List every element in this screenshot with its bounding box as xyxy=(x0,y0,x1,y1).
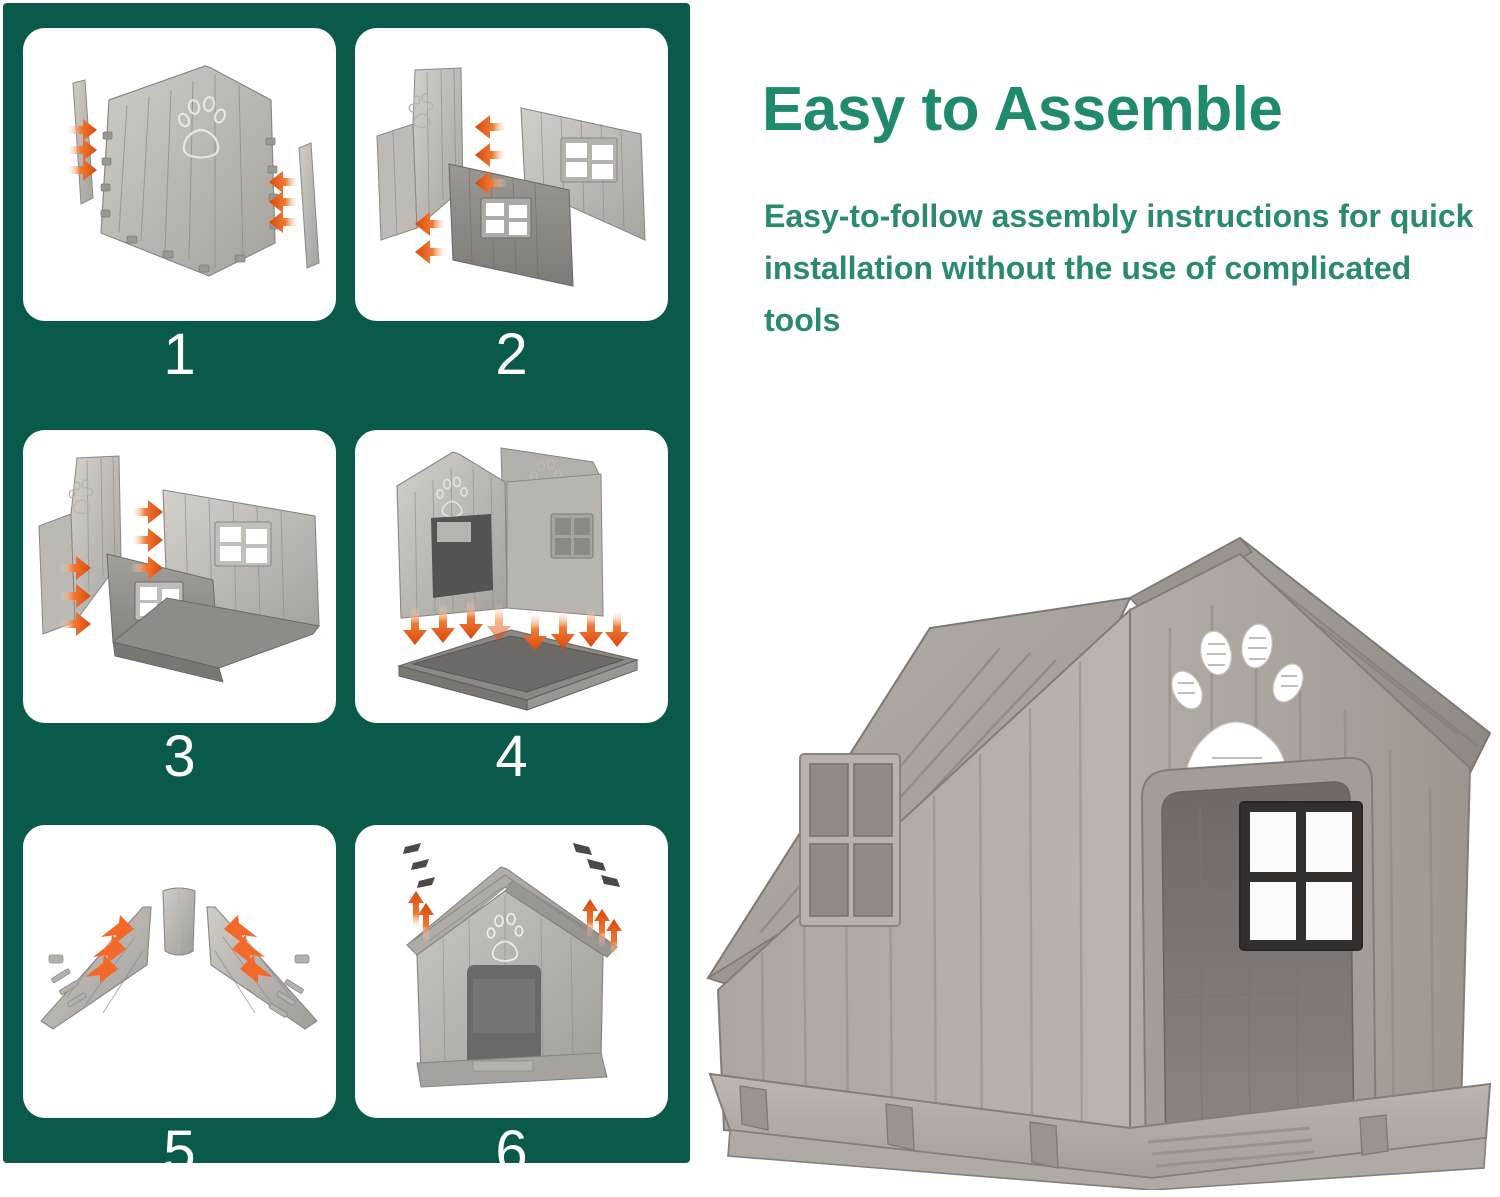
step-number-3: 3 xyxy=(23,726,336,788)
side-rail-right xyxy=(299,143,319,268)
step-4-illustration xyxy=(355,430,668,723)
window-frame xyxy=(481,198,531,238)
front-wall-folded xyxy=(377,68,463,240)
step-card-4 xyxy=(355,430,668,723)
front-wall-panel xyxy=(101,66,279,276)
side-window xyxy=(800,754,900,926)
step-1-illustration xyxy=(23,28,336,321)
assembly-step-1: 1 xyxy=(23,28,336,321)
step-number-1: 1 xyxy=(23,324,336,386)
step-2-illustration xyxy=(355,28,668,321)
assembly-arrows-left xyxy=(67,119,97,181)
front-wall xyxy=(1130,554,1470,1178)
step-number-5: 5 xyxy=(23,1121,336,1183)
page-title: Easy to Assemble xyxy=(762,74,1462,146)
rear-window xyxy=(1240,802,1362,950)
step-card-3 xyxy=(23,430,336,723)
step-5-illustration xyxy=(23,825,336,1118)
floor-base-panel xyxy=(399,630,637,710)
window-frame xyxy=(215,522,271,566)
step-card-5 xyxy=(23,825,336,1118)
assembly-step-2: 2 xyxy=(355,28,668,321)
step-number-6: 6 xyxy=(355,1121,668,1183)
wall-assembly xyxy=(397,448,603,618)
roof-ridge-cap xyxy=(163,888,195,955)
assembly-steps-panel: 1 xyxy=(3,3,690,1163)
assembly-step-3: 3 xyxy=(23,430,336,723)
window-frame xyxy=(551,514,593,558)
assembly-step-5: 5 xyxy=(23,825,336,1118)
step-3-illustration xyxy=(23,430,336,723)
step-card-6 xyxy=(355,825,668,1118)
step-number-2: 2 xyxy=(355,324,668,386)
step-card-2 xyxy=(355,28,668,321)
step-card-1 xyxy=(23,28,336,321)
roof-panel-left xyxy=(41,907,151,1029)
roof-panel-right xyxy=(207,907,317,1029)
page-subtitle: Easy-to-follow assembly instructions for… xyxy=(764,190,1474,346)
hero-product-image xyxy=(700,478,1500,1190)
assembly-step-4: 4 xyxy=(355,430,668,723)
front-wall-gabled xyxy=(39,456,121,634)
step-6-illustration xyxy=(355,825,668,1118)
assembly-arrows-right xyxy=(269,171,299,233)
window-frame xyxy=(561,138,617,182)
step-number-4: 4 xyxy=(355,726,668,788)
assembly-step-6: 6 xyxy=(355,825,668,1118)
